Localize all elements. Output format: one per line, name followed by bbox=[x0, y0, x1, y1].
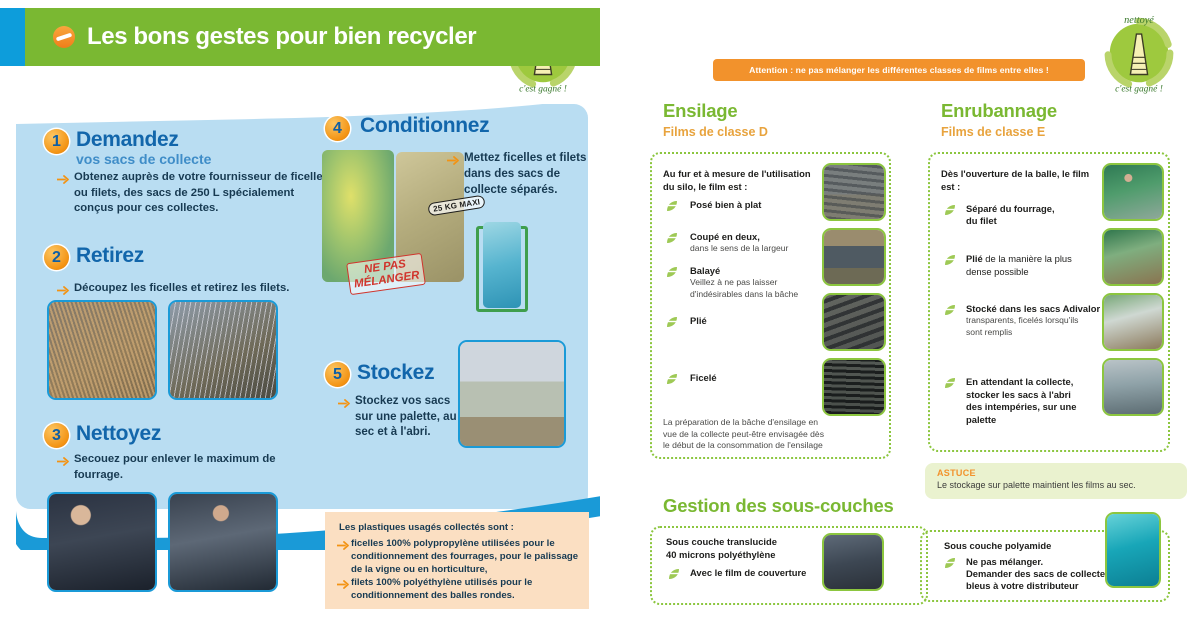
arrow-icon bbox=[57, 174, 70, 185]
leaf-icon bbox=[664, 372, 679, 385]
collected-plastics-item-1: ficelles 100% polypropylène utilisées po… bbox=[351, 537, 579, 576]
enrubannage-item-3: Stocké dans les sacs Adivalor bbox=[966, 303, 1106, 316]
photo-cut-strings bbox=[47, 300, 157, 400]
sous-couche-translucide-line1: Sous couche translucide bbox=[666, 536, 777, 549]
sous-couches-title: Gestion des sous-couches bbox=[663, 495, 894, 517]
enrubannage-item-4: En attendant la collecte, stocker les sa… bbox=[966, 376, 1084, 426]
leaf-icon bbox=[664, 231, 679, 244]
leaf-icon bbox=[942, 376, 957, 389]
astuce-text: Le stockage sur palette maintient les fi… bbox=[937, 480, 1136, 490]
leaf-icon bbox=[942, 203, 957, 216]
step-1-body: Obtenez auprès de votre fournisseur de f… bbox=[74, 170, 329, 217]
photo-remove-nets bbox=[168, 300, 278, 400]
leaf-icon bbox=[942, 303, 957, 316]
photo-sous-couche-translucide bbox=[822, 533, 884, 591]
ensilage-item-2-note: dans le sens de la largeur bbox=[690, 243, 830, 255]
photo-enrubannage-1 bbox=[1102, 163, 1164, 221]
sous-couche-polyamide-item-2: Demander des sacs de collecte bbox=[966, 568, 1105, 581]
arrow-icon bbox=[447, 155, 460, 166]
photo-enrubannage-3 bbox=[1102, 293, 1164, 351]
sous-couche-translucide-item: Avec le film de couverture bbox=[690, 567, 806, 580]
enrubannage-title: Enrubannage bbox=[941, 100, 1057, 122]
sous-couche-translucide-line2: 40 microns polyéthylène bbox=[666, 549, 775, 562]
ensilage-intro: Au fur et à mesure de l'utilisation du s… bbox=[663, 168, 813, 193]
step-5-title: Stockez bbox=[357, 361, 434, 385]
right-header-title: Les bons gestes pour bien recycler bbox=[87, 23, 476, 51]
arrow-icon bbox=[57, 456, 70, 467]
astuce-box: ASTUCE Le stockage sur palette maintient… bbox=[925, 463, 1187, 499]
photo-enrubannage-2 bbox=[1102, 228, 1164, 286]
enrubannage-subtitle: Films de classe E bbox=[941, 125, 1045, 139]
ensilage-item-1: Posé bien à plat bbox=[690, 199, 822, 212]
photo-enrubannage-4 bbox=[1102, 358, 1164, 416]
svg-text:c'est gagné !: c'est gagné ! bbox=[1115, 85, 1163, 95]
step-3-body: Secouez pour enlever le maximum de fourr… bbox=[74, 452, 324, 483]
sous-couche-polyamide-line1: Sous couche polyamide bbox=[944, 540, 1051, 553]
enrubannage-intro: Dès l'ouverture de la balle, le film est… bbox=[941, 168, 1091, 193]
ensilage-item-3-note: Veillez à ne pas laisser d'indésirables … bbox=[690, 277, 820, 300]
sous-couche-polyamide-item-3: bleus à votre distributeur bbox=[966, 580, 1079, 593]
step-2-title: Retirez bbox=[76, 244, 144, 268]
collected-plastics-box: Les plastiques usagés collectés sont : f… bbox=[325, 512, 589, 609]
photo-bag-on-rack bbox=[483, 222, 521, 308]
leaf-icon bbox=[664, 265, 679, 278]
ensilage-title: Ensilage bbox=[663, 100, 738, 122]
step-4-title: Conditionnez bbox=[360, 114, 489, 138]
photo-ensilage-3 bbox=[822, 293, 886, 351]
leaf-icon bbox=[666, 567, 681, 580]
photo-ensilage-4 bbox=[822, 358, 886, 416]
arrow-icon bbox=[337, 540, 350, 551]
photo-shake-net bbox=[168, 492, 278, 592]
step-5-number: 5 bbox=[325, 362, 350, 387]
step-4-number: 4 bbox=[325, 116, 350, 141]
photo-shake-strings bbox=[47, 492, 157, 592]
warning-band: Attention : ne pas mélanger les différen… bbox=[713, 59, 1085, 81]
ensilage-item-3: Balayé bbox=[690, 265, 822, 278]
arrow-icon bbox=[57, 285, 70, 296]
enrubannage-item-2-note: de la manière la plus dense possible bbox=[966, 253, 1072, 277]
astuce-label: ASTUCE bbox=[937, 468, 976, 478]
enrubannage-item-1-note: du filet bbox=[966, 215, 1094, 228]
step-3-number: 3 bbox=[44, 423, 69, 448]
svg-text:c'est gagné !: c'est gagné ! bbox=[519, 85, 567, 95]
leaf-icon bbox=[664, 199, 679, 212]
arrow-icon bbox=[337, 579, 350, 590]
enrubannage-item-2: Plié bbox=[966, 253, 983, 264]
ensilage-item-2: Coupé en deux, bbox=[690, 231, 822, 244]
ensilage-item-4: Plié bbox=[690, 315, 822, 328]
step-1-subtitle: vos sacs de collecte bbox=[76, 151, 211, 167]
collected-plastics-lead: Les plastiques usagés collectés sont : bbox=[339, 522, 514, 533]
photo-pallet-storage bbox=[458, 340, 566, 448]
ensilage-subtitle: Films de classe D bbox=[663, 125, 768, 139]
leaf-icon bbox=[942, 556, 957, 569]
step-5-body: Stockez vos sacs sur une palette, au sec… bbox=[355, 394, 465, 441]
arrow-icon bbox=[338, 398, 351, 409]
step-4-body: Mettez ficelles et filets dans des sacs … bbox=[464, 150, 592, 198]
right-header-bar: Les bons gestes pour bien recycler bbox=[25, 8, 600, 66]
bullet-icon bbox=[53, 26, 75, 48]
ensilage-footnote: La préparation de la bâche d'ensilage en… bbox=[663, 417, 833, 452]
step-1-title: Demandez bbox=[76, 128, 179, 152]
enrubannage-item-3-note: transparents, ficelés lorsqu'ils sont re… bbox=[966, 315, 1096, 338]
ensilage-item-5: Ficelé bbox=[690, 372, 822, 385]
sous-couche-polyamide-item-1: Ne pas mélanger. bbox=[966, 556, 1043, 569]
step-2-body: Découpez les ficelles et retirez les fil… bbox=[74, 281, 324, 297]
leaf-icon bbox=[664, 315, 679, 328]
left-page: Les bons gestes pour bien recycler 1 Dem… bbox=[0, 0, 600, 622]
step-2-number: 2 bbox=[44, 245, 69, 270]
photo-ensilage-2 bbox=[822, 228, 886, 286]
photo-sac-bleu bbox=[1105, 512, 1161, 588]
collected-plastics-item-2: filets 100% polyéthylène utilisés pour l… bbox=[351, 576, 579, 602]
nettoye-cest-gagne-logo: nettoyé c'est gagné ! bbox=[1096, 10, 1182, 96]
step-3-title: Nettoyez bbox=[76, 422, 161, 446]
photo-ensilage-1 bbox=[822, 163, 886, 221]
leaf-icon bbox=[942, 253, 957, 266]
enrubannage-item-1: Séparé du fourrage, bbox=[966, 203, 1094, 216]
step-1-number: 1 bbox=[44, 129, 69, 154]
svg-text:nettoyé: nettoyé bbox=[1124, 15, 1154, 26]
